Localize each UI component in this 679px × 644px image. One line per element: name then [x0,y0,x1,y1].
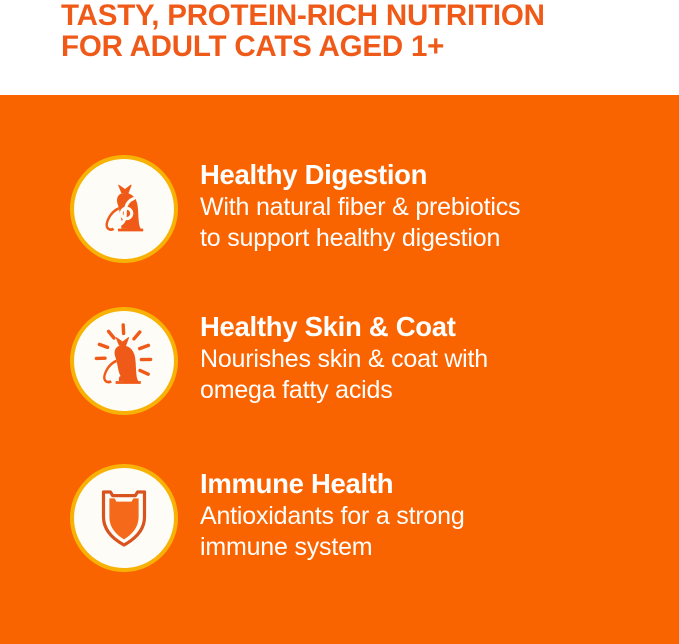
badge-circle-healthy-digestion [70,155,178,263]
product-feature-graphic: TASTY, PROTEIN-RICH NUTRITION FOR ADULT … [0,0,679,644]
feature-heading: Healthy Digestion [200,159,650,190]
feature-text-immune-health: Immune Health Antioxidants for a strong … [200,468,650,563]
feature-description: Nourishes skin & coat with omega fatty a… [200,344,650,406]
feature-description: With natural fiber & prebiotics to suppo… [200,192,650,254]
cat-digestion-icon [88,173,160,245]
feature-text-healthy-digestion: Healthy Digestion With natural fiber & p… [200,159,650,254]
feature-heading: Immune Health [200,468,650,499]
feature-panel: Healthy Digestion With natural fiber & p… [0,95,679,644]
feature-text-healthy-skin-coat: Healthy Skin & Coat Nourishes skin & coa… [200,311,650,406]
cat-shine-icon [84,323,164,399]
shield-icon [90,481,158,555]
feature-description: Antioxidants for a strong immune system [200,501,650,563]
feature-heading: Healthy Skin & Coat [200,311,650,342]
header-band: TASTY, PROTEIN-RICH NUTRITION FOR ADULT … [0,0,679,95]
badge-circle-healthy-skin-coat [70,307,178,415]
page-title: TASTY, PROTEIN-RICH NUTRITION FOR ADULT … [61,0,661,62]
badge-circle-immune-health [70,464,178,572]
